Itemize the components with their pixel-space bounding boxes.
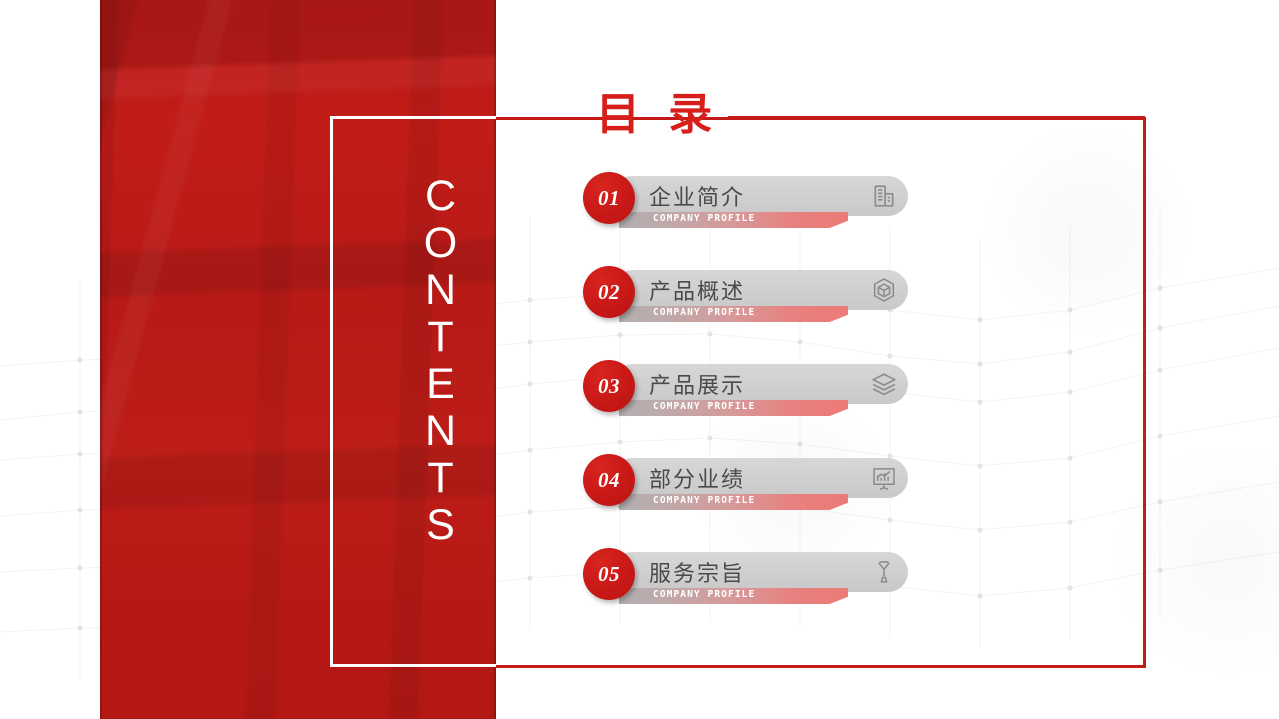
page-title-text: 目 录 (596, 93, 720, 137)
toc-item-04[interactable]: 部分业绩 COMPANY PROFILE 04 (583, 454, 923, 548)
toc-subtitle-03: COMPANY PROFILE (653, 401, 755, 412)
toc-subtitle-01: COMPANY PROFILE (653, 213, 755, 224)
page-title: 目 录 (596, 93, 720, 137)
toc-number-03: 03 (598, 374, 620, 399)
toc-number-05: 05 (598, 562, 620, 587)
toc-title-04: 部分业绩 (649, 462, 745, 494)
toc-subtitle-02: COMPANY PROFILE (653, 307, 755, 318)
slide-canvas: CONTENTS 目 录 企业简介 COMPANY PROFILE 01 (0, 0, 1279, 719)
toc-item-05[interactable]: 服务宗旨 COMPANY PROFILE 05 (583, 548, 923, 642)
contents-text: CONTENTS (416, 172, 465, 548)
toc-number-badge-03[interactable]: 03 (583, 360, 635, 412)
toc-number-02: 02 (598, 280, 620, 305)
toc-item-03[interactable]: 产品展示 COMPANY PROFILE 03 (583, 360, 923, 454)
contents-vertical-label: CONTENTS (380, 150, 500, 570)
heart-award-icon (871, 559, 897, 585)
toc-number-01: 01 (598, 186, 620, 211)
toc-title-03: 产品展示 (649, 368, 745, 400)
toc-title-05: 服务宗旨 (649, 556, 745, 588)
presentation-chart-icon (871, 465, 897, 491)
toc-number-badge-04[interactable]: 04 (583, 454, 635, 506)
toc-number-badge-02[interactable]: 02 (583, 266, 635, 318)
toc-title-01: 企业简介 (649, 180, 745, 212)
toc-number-badge-05[interactable]: 05 (583, 548, 635, 600)
toc-number-04: 04 (598, 468, 620, 493)
panel-left-edge (100, 0, 102, 719)
table-of-contents-list: 企业简介 COMPANY PROFILE 01 产品概述 (583, 172, 923, 642)
toc-subtitle-05: COMPANY PROFILE (653, 589, 755, 600)
title-divider-line (728, 116, 1145, 119)
toc-subtitle-04: COMPANY PROFILE (653, 495, 755, 506)
building-icon (871, 183, 897, 209)
toc-item-02[interactable]: 产品概述 COMPANY PROFILE 02 (583, 266, 923, 360)
toc-item-01[interactable]: 企业简介 COMPANY PROFILE 01 (583, 172, 923, 266)
layers-icon (871, 371, 897, 397)
toc-number-badge-01[interactable]: 01 (583, 172, 635, 224)
toc-title-02: 产品概述 (649, 274, 745, 306)
cube-3d-icon (871, 277, 897, 303)
